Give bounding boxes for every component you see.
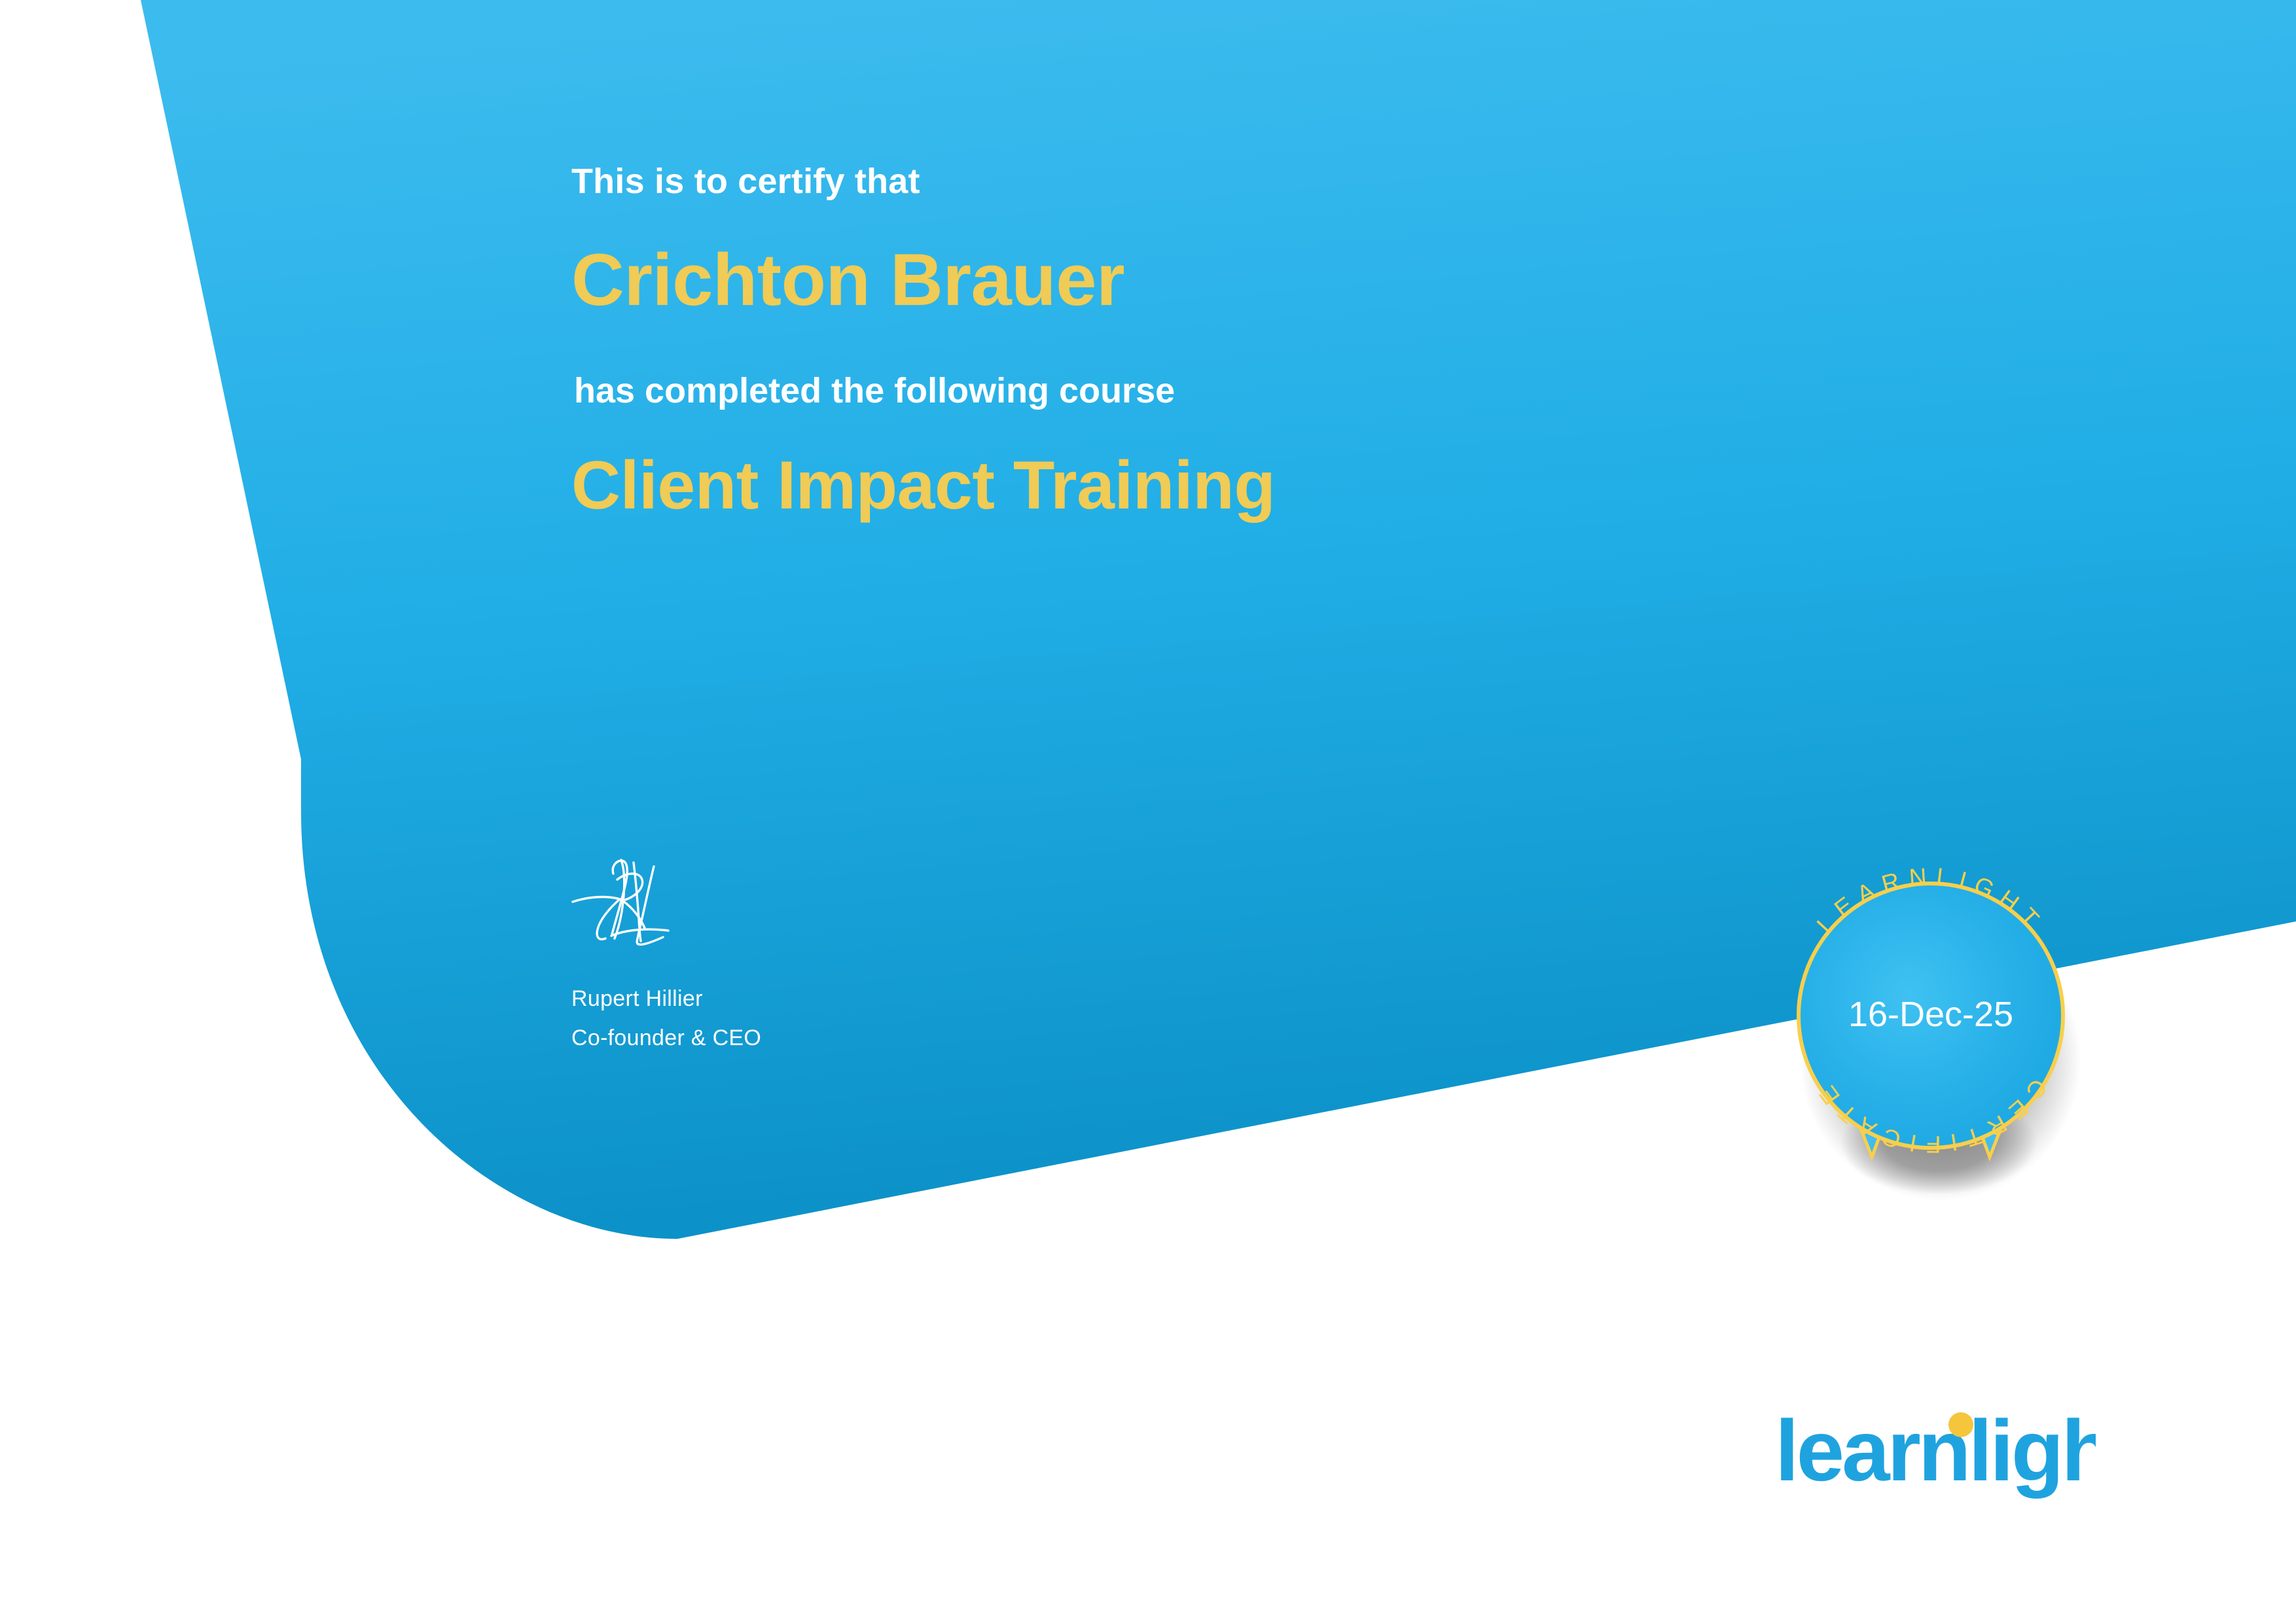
learnlight-wordmark: learnlight [1775, 1407, 2096, 1505]
logo-text: learnlight [1775, 1407, 2096, 1499]
signature-block: Rupert Hillier Co-founder & CEO [571, 851, 761, 1054]
logo-dot-icon [1948, 1412, 1973, 1437]
completion-label: has completed the following course [571, 317, 1684, 408]
handwritten-signature-icon [571, 851, 742, 955]
certificate-text-block: This is to certify that Crichton Brauer … [571, 164, 1684, 520]
learnlight-logo: learnlight [1775, 1407, 2096, 1518]
certificate-seal: LEARNLIGHT CERTIFICATE 16-Dec-25 [1761, 844, 2101, 1211]
recipient-name: Crichton Brauer [571, 199, 1684, 317]
seal-date: 16-Dec-25 [1848, 995, 2013, 1034]
signatory-name: Rupert Hillier [571, 955, 761, 1014]
signatory-role: Co-founder & CEO [571, 1014, 761, 1054]
course-name: Client Impact Training [571, 408, 1684, 520]
certify-label: This is to certify that [571, 164, 1684, 199]
